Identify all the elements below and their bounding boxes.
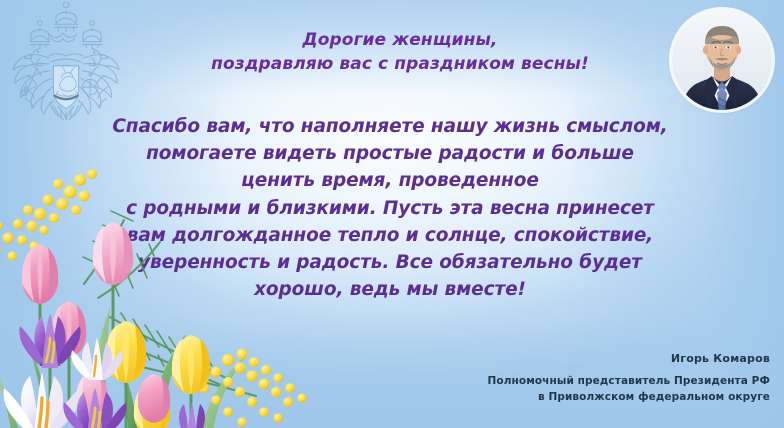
signatory-title-line-2: в Приволжском федеральном округе — [370, 390, 770, 406]
portrait-photo — [672, 10, 772, 110]
signatory-name: Игорь Комаров — [370, 352, 770, 365]
message-body: Спасибо вам, что наполняете нашу жизнь с… — [110, 113, 670, 303]
signature-block: Игорь Комаров Полномочный представитель … — [370, 352, 770, 406]
signatory-title: Полномочный представитель Президента РФ … — [370, 374, 770, 406]
message-line-2: помогаете видеть простые радости и больш… — [110, 140, 670, 167]
message-line-7: хорошо, ведь мы вместе! — [110, 276, 670, 303]
signatory-title-line-1: Полномочный представитель Президента РФ — [370, 374, 770, 390]
message-line-3: ценить время, проведенное — [110, 167, 670, 194]
message-line-4: с родными и близкими. Пусть эта весна пр… — [110, 195, 670, 222]
message-line-6: уверенность и радость. Все обязательно б… — [110, 249, 670, 276]
message-line-5: вам долгожданное тепло и солнце, спокойс… — [110, 222, 670, 249]
headline-line-2: поздравляю вас с праздником весны! — [211, 54, 589, 74]
headline-line-1: Дорогие женщины, — [303, 30, 498, 50]
coat-of-arms-icon — [8, 2, 124, 120]
headline: Дорогие женщины, поздравляю вас с праздн… — [150, 28, 650, 76]
greeting-card: Дорогие женщины, поздравляю вас с праздн… — [0, 0, 784, 428]
message-line-1: Спасибо вам, что наполняете нашу жизнь с… — [110, 113, 670, 140]
